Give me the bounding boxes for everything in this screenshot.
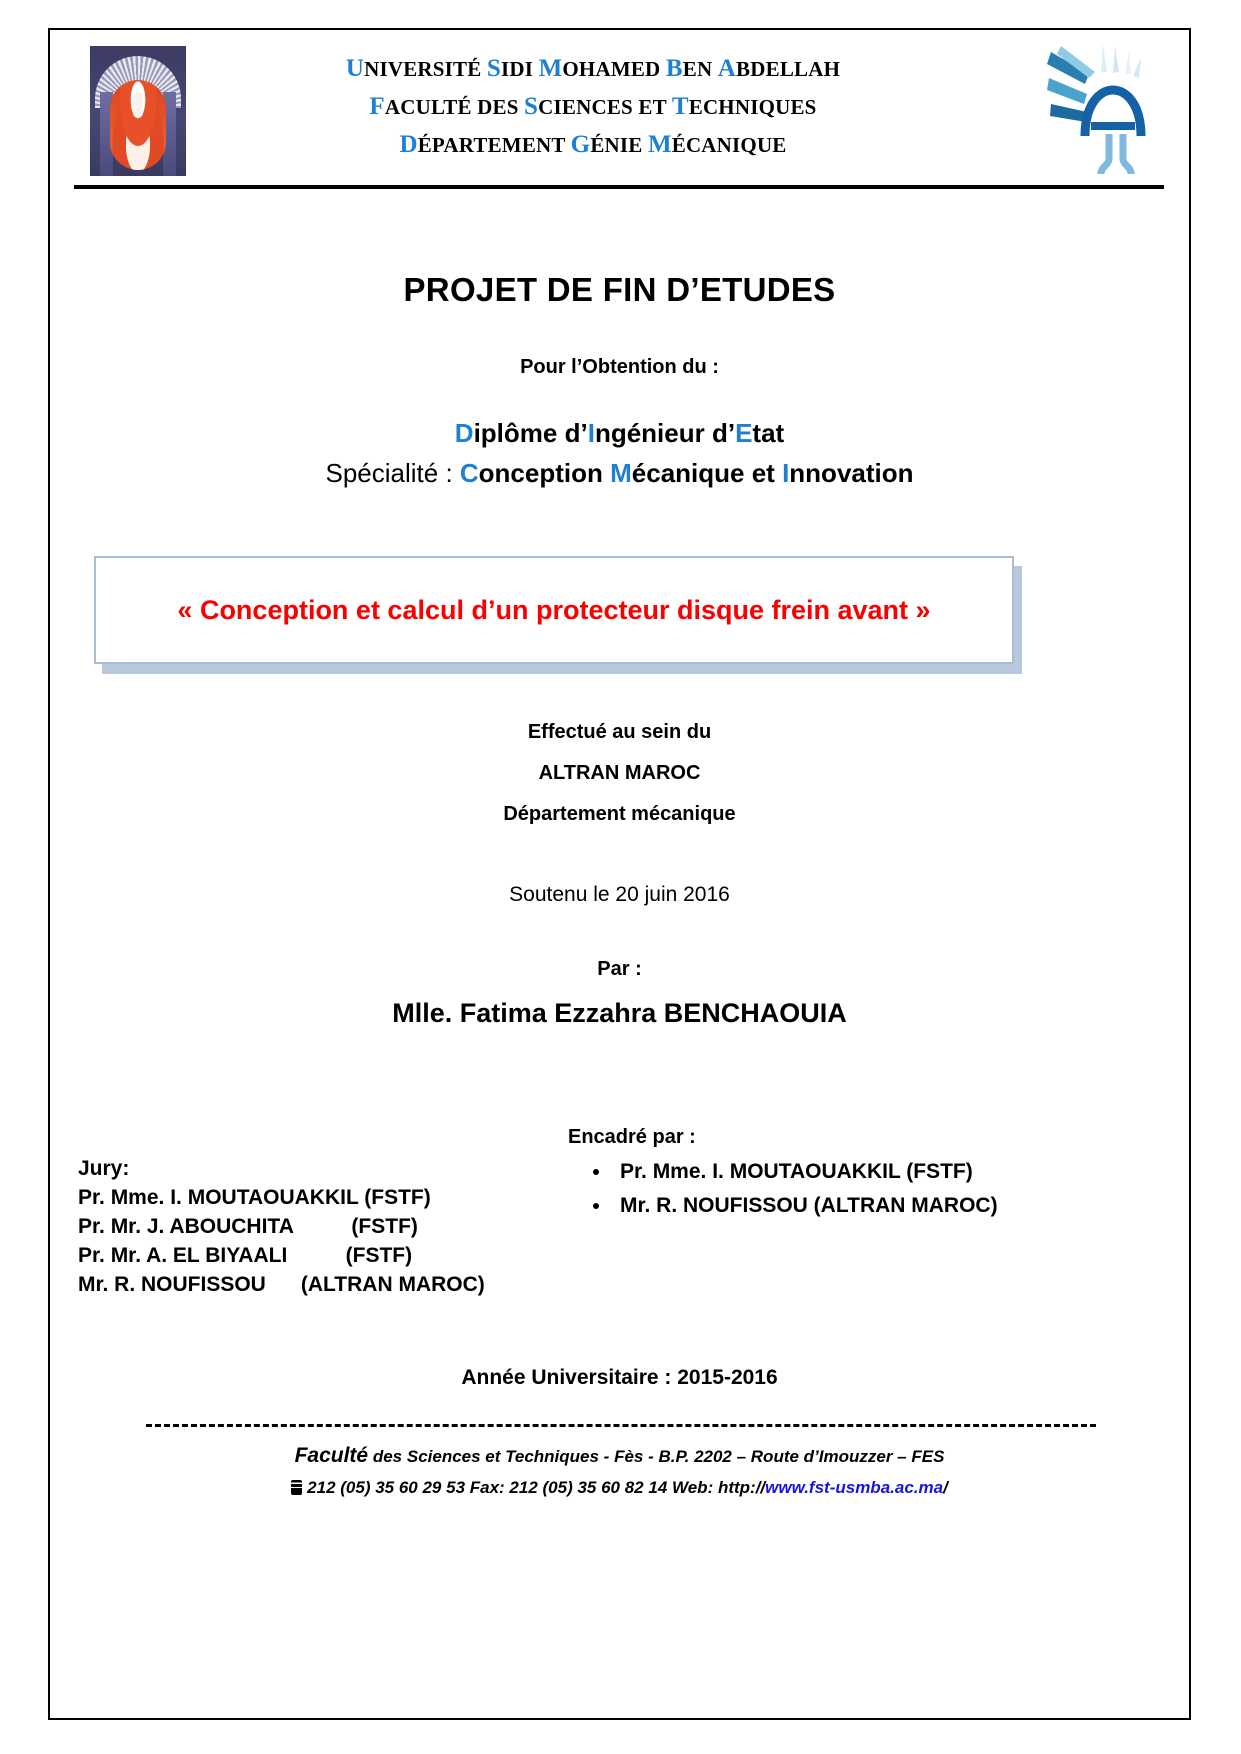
list-item: Mr. R. NOUFISSOU (ALTRAN MAROC) (612, 1189, 1158, 1223)
jury-member: Pr. Mr. A. EL BIYAALI (FSTF) (78, 1241, 568, 1270)
footer-faculty-word: Faculté (295, 1444, 369, 1467)
txt-abdellah: BDELLAH (736, 57, 840, 81)
degree-info: Diplôme d’Ingénieur d’Etat Spécialité : … (48, 413, 1191, 493)
document-header: UNIVERSITÉ SIDI MOHAMED BEN ABDELLAH FAC… (48, 28, 1191, 196)
cap-b: B (666, 55, 683, 82)
author-name: Mlle. Fatima Ezzahra BENCHAOUIA (48, 998, 1191, 1029)
institution-line-department: DÉPARTEMENT GÉNIE MÉCANIQUE (198, 126, 988, 164)
altran-a-logo-icon (1045, 38, 1155, 178)
list-item: Pr. Mme. I. MOUTAOUAKKIL (FSTF) (612, 1155, 1158, 1189)
host-label: Effectué au sein du (48, 712, 1191, 753)
project-title-text: « Conception et calcul d’un protecteur d… (161, 590, 946, 630)
jury-member: Pr. Mme. I. MOUTAOUAKKIL (FSTF) (78, 1183, 568, 1212)
txt-diplome: iplôme d’ (474, 418, 588, 448)
txt-mecanique: écanique et (632, 458, 782, 488)
cap-a: A (718, 55, 736, 82)
cap-m2: M (648, 131, 672, 158)
jury-block: Jury: Pr. Mme. I. MOUTAOUAKKIL (FSTF) Pr… (78, 1154, 568, 1299)
degree-line-specialty: Spécialité : Conception Mécanique et Inn… (48, 453, 1191, 493)
cap-f: F (369, 93, 384, 120)
footer-address: Faculté des Sciences et Techniques - Fès… (48, 1440, 1191, 1472)
cap-ingenieur-i: I (588, 418, 595, 448)
footer-contact: 212 (05) 35 60 29 53 Fax: 212 (05) 35 60… (48, 1472, 1191, 1503)
jury-member: Pr. Mr. J. ABOUCHITA (FSTF) (78, 1212, 568, 1241)
institution-line-faculty: FACULTÉ DES SCIENCES ET TECHNIQUES (198, 88, 988, 126)
host-department: Département mécanique (48, 794, 1191, 835)
cap-diplome-d: D (455, 418, 474, 448)
txt-conception: onception (479, 458, 610, 488)
telephone-icon (291, 1480, 302, 1495)
crest-emblem-shape (110, 80, 166, 170)
txt-sidi: IDI (501, 57, 539, 81)
defense-date: Soutenu le 20 juin 2016 (48, 883, 1191, 907)
txt-mohamed: OHAMED (562, 57, 665, 81)
project-title-box-frame: « Conception et calcul d’un protecteur d… (94, 556, 1014, 664)
subtitle-pour-obtention: Pour l’Obtention du : (48, 356, 1191, 379)
altran-logo-svg (1045, 38, 1155, 178)
txt-faculte: ACULTÉ DES (385, 95, 524, 119)
cap-d: D (399, 131, 417, 158)
cap-conception-c: C (460, 458, 479, 488)
txt-specialite-label: Spécialité : (325, 458, 459, 488)
txt-departement: ÉPARTEMENT (418, 133, 571, 157)
host-company-block: Effectué au sein du ALTRAN MAROC Départe… (48, 712, 1191, 835)
host-company-name: ALTRAN MAROC (48, 753, 1191, 794)
header-divider (74, 185, 1164, 189)
degree-line-diploma: Diplôme d’Ingénieur d’Etat (48, 413, 1191, 453)
txt-etat: tat (752, 418, 784, 448)
footer-address-rest: des Sciences et Techniques - Fès - B.P. … (368, 1447, 944, 1466)
page-title: PROJET DE FIN D’ETUDES (48, 271, 1191, 309)
cap-etat-e: E (735, 418, 752, 448)
document-footer: Faculté des Sciences et Techniques - Fès… (48, 1440, 1191, 1503)
cap-s2: S (524, 93, 538, 120)
txt-sciences: CIENCES ET (538, 95, 672, 119)
institution-titles: UNIVERSITÉ SIDI MOHAMED BEN ABDELLAH FAC… (198, 50, 988, 164)
author-label: Par : (48, 958, 1191, 981)
institution-line-university: UNIVERSITÉ SIDI MOHAMED BEN ABDELLAH (198, 50, 988, 88)
cap-mecanique-m: M (610, 458, 632, 488)
jury-member: Mr. R. NOUFISSOU (ALTRAN MAROC) (78, 1270, 568, 1299)
cap-m: M (539, 55, 563, 82)
cap-t: T (672, 93, 689, 120)
supervisors-list: Pr. Mme. I. MOUTAOUAKKIL (FSTF) Mr. R. N… (568, 1155, 1158, 1223)
cap-g: G (571, 131, 591, 158)
txt-universite: NIVERSITÉ (364, 57, 487, 81)
txt-genie: ÉNIE (590, 133, 648, 157)
jury-heading: Jury: (78, 1154, 568, 1183)
cap-u: U (346, 55, 364, 82)
supervisors-block: Encadré par : Pr. Mme. I. MOUTAOUAKKIL (… (568, 1126, 1158, 1223)
txt-techniques: ECHNIQUES (689, 95, 817, 119)
footer-url-slash: / (943, 1478, 948, 1497)
project-title-box: « Conception et calcul d’un protecteur d… (94, 556, 1014, 664)
academic-year: Année Universitaire : 2015-2016 (48, 1366, 1191, 1390)
footer-phone-fax: 212 (05) 35 60 29 53 Fax: 212 (05) 35 60… (307, 1478, 765, 1497)
txt-ben: EN (683, 57, 718, 81)
supervisors-heading: Encadré par : (568, 1126, 1158, 1149)
footer-divider (146, 1424, 1096, 1427)
txt-innovation: nnovation (789, 458, 913, 488)
page-content: UNIVERSITÉ SIDI MOHAMED BEN ABDELLAH FAC… (48, 28, 1191, 1720)
footer-website-link[interactable]: www.fst-usmba.ac.ma (765, 1478, 943, 1497)
cap-s: S (487, 55, 501, 82)
university-crest-icon (90, 46, 186, 176)
txt-ingenieur: ngénieur d’ (595, 418, 735, 448)
txt-mecanique: ÉCANIQUE (672, 133, 787, 157)
